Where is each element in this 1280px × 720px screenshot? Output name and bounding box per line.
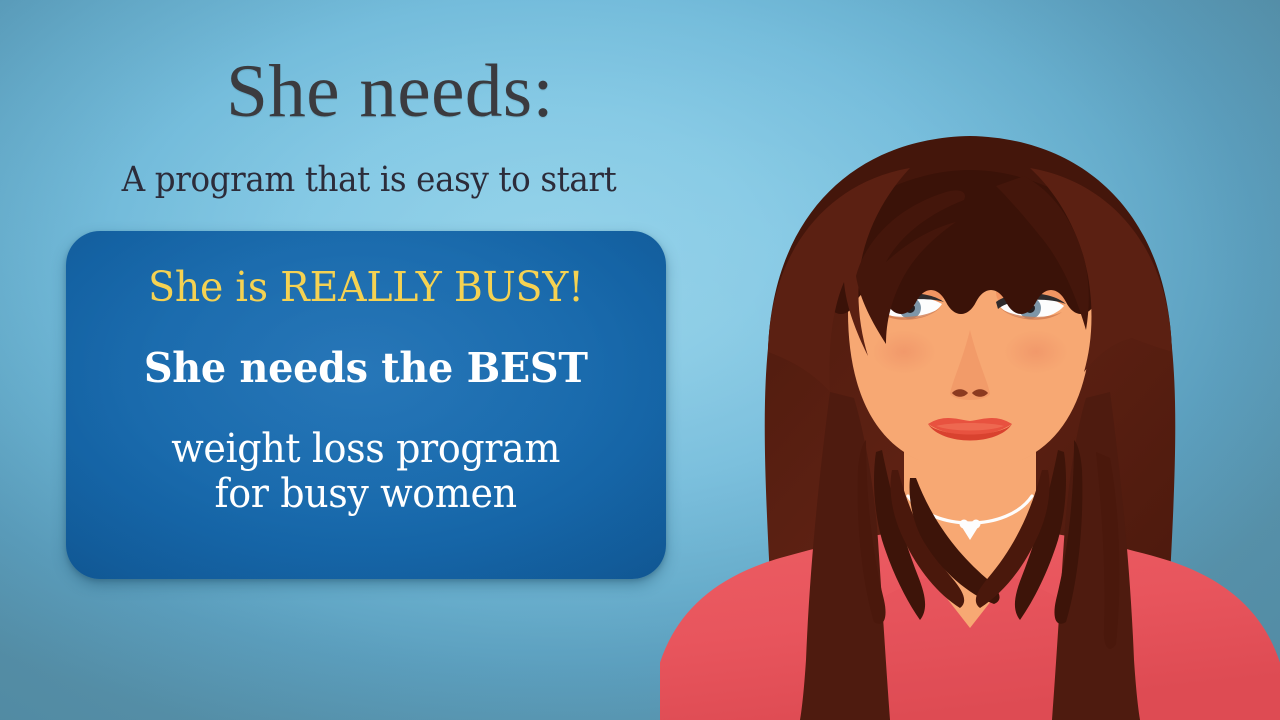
page-subtitle: A program that is easy to start (26, 163, 712, 198)
highlight-card: She is REALLY BUSY! She needs the BEST w… (66, 231, 666, 579)
card-line-busy: She is REALLY BUSY! (148, 267, 584, 308)
card-line-program: weight loss program for busy women (172, 427, 561, 517)
card-line-program-1: weight loss program (172, 427, 561, 472)
woman-illustration (660, 0, 1280, 720)
blush-right (1004, 330, 1068, 374)
card-line-program-2: for busy women (172, 472, 561, 517)
slide-canvas: She needs: A program that is easy to sta… (0, 0, 1280, 720)
card-line-best: She needs the BEST (144, 348, 588, 389)
